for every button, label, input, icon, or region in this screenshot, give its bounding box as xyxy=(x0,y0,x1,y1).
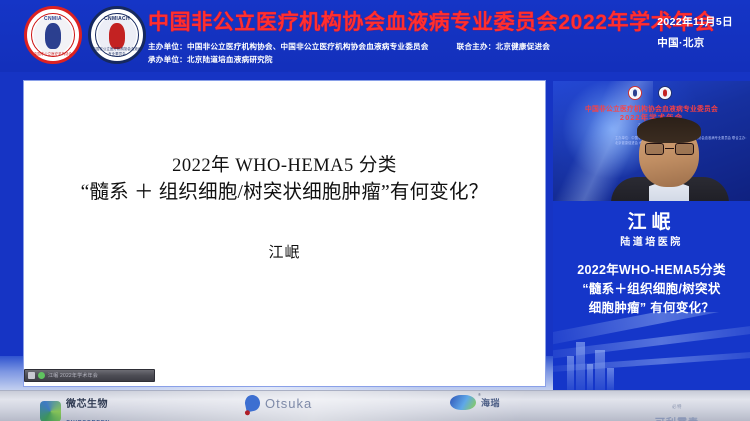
chipscreen-logo-icon xyxy=(40,401,61,421)
host-text: 承办单位：北京陆道培血液病研究院 xyxy=(148,54,273,65)
sponsor-hairui: 海瑞 xyxy=(450,395,500,410)
organizer-text: 主办单位：中国非公立医疗机构协会、中国非公立医疗机构协会血液病专业委员会 xyxy=(148,41,429,52)
speaker-name: 江岷 xyxy=(553,207,750,234)
sponsor-otsuka: Otsuka xyxy=(245,395,312,411)
speaker-video-feed[interactable]: 中国非公立医疗机构协会血液病专业委员会 2022年学术年会 2022年11月5日… xyxy=(553,81,750,201)
backdrop-emblem-cnmia-icon xyxy=(628,86,642,100)
sponsor-name-cn: 海瑞 xyxy=(481,396,500,409)
sponsor-name-en: Otsuka xyxy=(265,396,312,411)
otsuka-logo-icon xyxy=(244,394,262,413)
co-organizer-text: 联合主办：北京健康促进会 xyxy=(457,41,551,52)
speaker-affiliation: 陆道培医院 xyxy=(553,233,750,248)
monitor-icon[interactable] xyxy=(28,372,35,379)
emblem-arc-text: 中国非公立医疗机构协会血液病专业委员会 xyxy=(91,46,143,56)
slide-author: 江岷 xyxy=(24,241,545,262)
backdrop-emblem-cnmiach-icon xyxy=(658,86,672,100)
sponsor-chipscreen: 微芯生物 CHIPSCREEN xyxy=(40,395,110,421)
association-emblem-cnmiach: CNMIACH 中国非公立医疗机构协会血液病专业委员会 xyxy=(88,6,146,64)
emblem-caduceus-icon xyxy=(45,23,61,49)
slide-title-line2: “髓系 ＋ 组织细胞/树突状细胞肿瘤”有何变化？ xyxy=(24,179,545,206)
slide-title-line1: 2022年 WHO-HEMA5 分类 xyxy=(24,154,545,179)
emblem-code-text: CNMIA xyxy=(27,16,79,22)
conference-date: 2022年11月5日 xyxy=(657,14,733,29)
sponsor-name-cn: 微芯生物 xyxy=(66,399,108,410)
speaker-glasses-icon xyxy=(645,143,694,155)
association-emblem-cnmia: CNMIA 中国非公立医疗机构协会 xyxy=(24,6,82,64)
slide-title: 2022年 WHO-HEMA5 分类 “髓系 ＋ 组织细胞/树突状细胞肿瘤”有何… xyxy=(24,154,545,206)
presentation-slide[interactable]: 2022年 WHO-HEMA5 分类 “髓系 ＋ 组织细胞/树突状细胞肿瘤”有何… xyxy=(24,81,545,386)
conference-date-block: 2022年11月5日 中国·北京 xyxy=(657,14,733,50)
carrimycin-logo-icon: 必特 可利霉素 CARRIMYCIN xyxy=(655,395,699,421)
presentation-stage: CNMIA 中国非公立医疗机构协会 CNMIACH 中国非公立医疗机构协会血液病… xyxy=(0,0,750,421)
organizer-row: 主办单位：中国非公立医疗机构协会、中国非公立医疗机构协会血液病专业委员会 联合主… xyxy=(148,41,550,52)
talk-title-line1: 2022年WHO-HEMA5分类 xyxy=(553,261,750,280)
sponsor-name-top: 必特 xyxy=(672,404,682,409)
presenter-icon[interactable] xyxy=(38,372,45,379)
speaker-video-panel[interactable]: 中国非公立医疗机构协会血液病专业委员会 2022年学术年会 2022年11月5日… xyxy=(553,81,750,390)
toolbar-label: 江岷 2022年学术年会 xyxy=(48,372,98,379)
panel-decoration xyxy=(553,312,750,390)
speaker-hair xyxy=(637,117,701,143)
emblem-arc-text: 中国非公立医疗机构协会 xyxy=(27,51,79,56)
sponsor-bar: 微芯生物 CHIPSCREEN Otsuka 海瑞 必特 可利霉素 CARRIM… xyxy=(0,390,750,421)
talk-title: 2022年WHO-HEMA5分类 “髓系＋组织细胞/树突状 细胞肿瘤” 有何变化… xyxy=(553,261,750,318)
hairui-logo-icon xyxy=(450,395,476,410)
sponsor-carrimycin: 必特 可利霉素 CARRIMYCIN xyxy=(655,395,699,421)
conference-title: 中国非公立医疗机构协会血液病专业委员会2022年学术年会 xyxy=(148,10,716,36)
emblem-code-text: CNMIACH xyxy=(91,16,143,22)
conference-location: 中国·北京 xyxy=(657,35,733,50)
presentation-control-toolbar[interactable]: 江岷 2022年学术年会 xyxy=(24,369,155,382)
conference-banner: CNMIA 中国非公立医疗机构协会 CNMIACH 中国非公立医疗机构协会血液病… xyxy=(0,0,750,72)
talk-title-line2: “髓系＋组织细胞/树突状 xyxy=(553,280,750,299)
